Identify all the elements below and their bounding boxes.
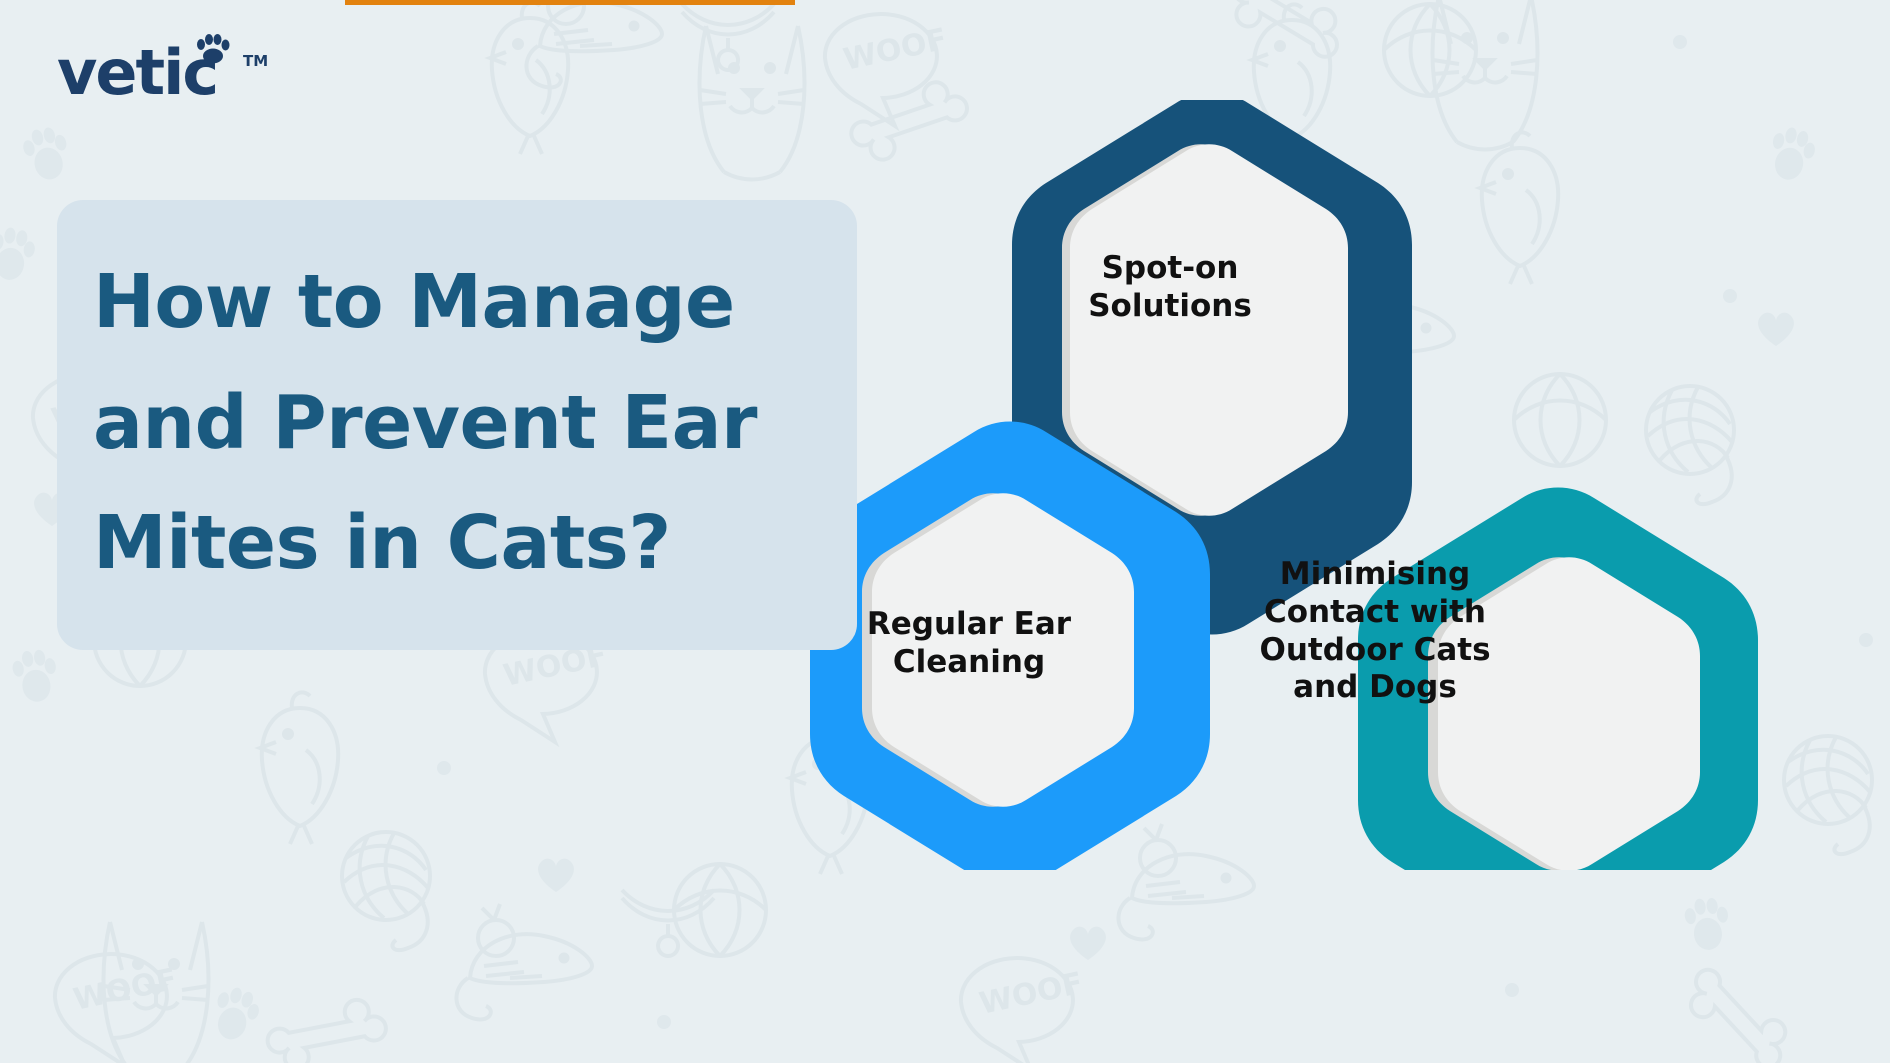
- hexagon-cluster: [780, 100, 1890, 870]
- hexagon-minimising-contact[interactable]: [1358, 488, 1758, 871]
- headline-panel: How to Manage and Prevent Ear Mites in C…: [57, 200, 857, 650]
- top-accent-bar: [345, 0, 795, 5]
- vetic-logo[interactable]: vetic TM: [57, 28, 257, 108]
- logo-wordmark: vetic: [57, 42, 217, 104]
- infographic-canvas: WOOF: [0, 0, 1890, 1063]
- page-title: How to Manage and Prevent Ear Mites in C…: [93, 242, 825, 604]
- logo-trademark: TM: [243, 52, 268, 70]
